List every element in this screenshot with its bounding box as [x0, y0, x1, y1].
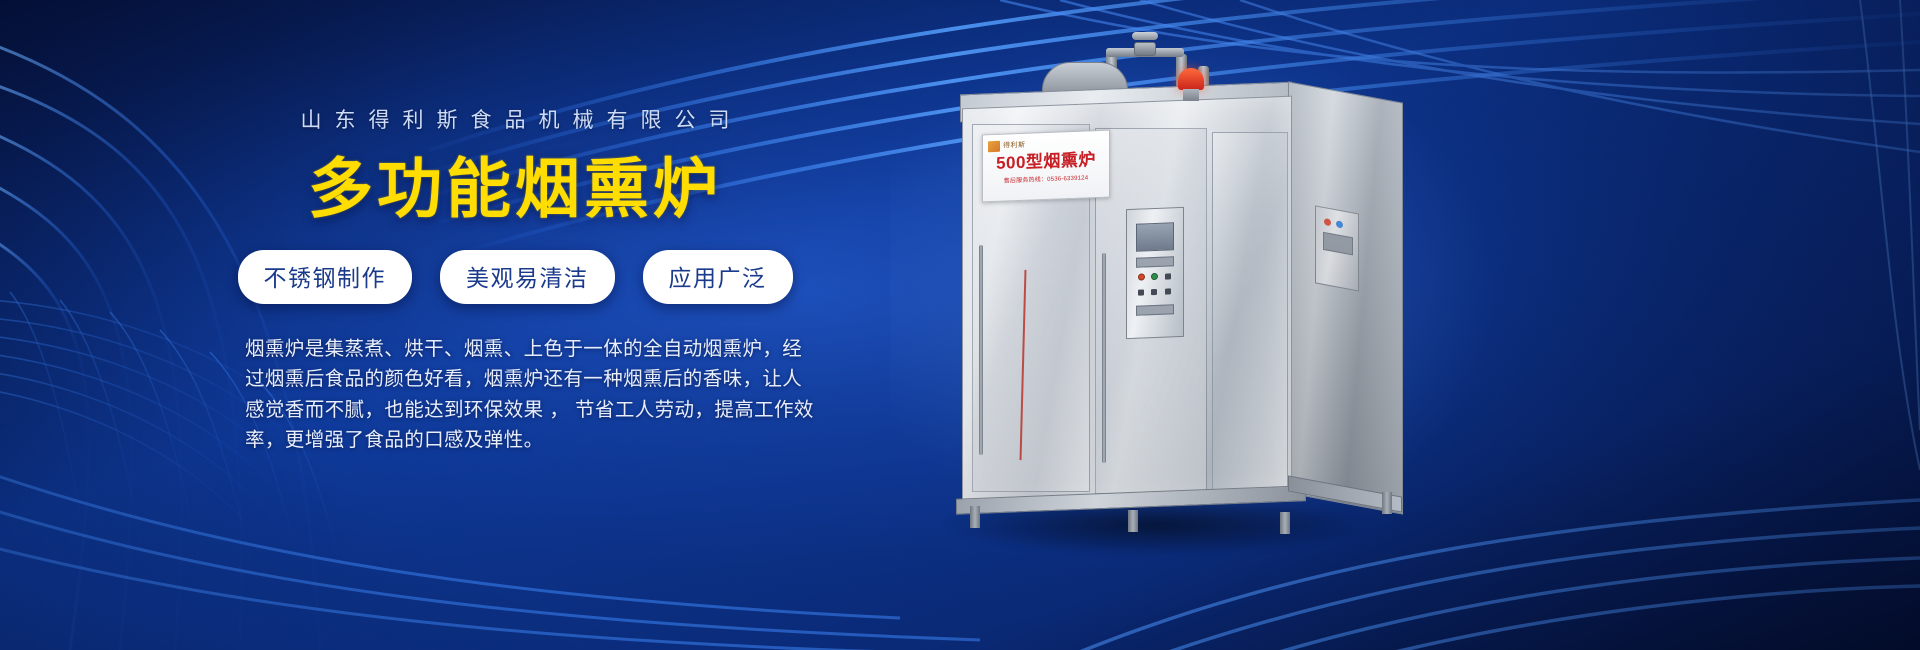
control-button-row-1[interactable]	[1136, 256, 1174, 267]
valve-body	[1134, 42, 1156, 56]
nameplate-hotline-text: 售后服务热线：0536-6339124	[988, 172, 1104, 185]
hero-banner: 山东得利斯食品机械有限公司 多功能烟熏炉 不锈钢制作 美观易清洁 应用广泛 烟熏…	[0, 0, 1920, 650]
support-leg-1	[970, 506, 980, 528]
product-nameplate: 得利斯 500型烟熏炉 售后服务热线：0536-6339124	[982, 130, 1110, 203]
alarm-beacon	[1178, 68, 1204, 102]
beacon-base	[1183, 89, 1199, 101]
nameplate-brand-text: 得利斯	[1003, 140, 1026, 151]
control-knob-red[interactable]	[1138, 273, 1145, 280]
nameplate-model-text: 500型烟熏炉	[988, 150, 1104, 175]
valve-wheel	[1132, 32, 1158, 40]
support-leg-2	[1128, 510, 1138, 532]
door-handle-middle[interactable]	[1102, 253, 1106, 463]
beacon-dome-red	[1178, 68, 1204, 90]
brand-logo-icon	[988, 140, 1000, 151]
control-button-a[interactable]	[1165, 273, 1171, 279]
banner-text-block: 山东得利斯食品机械有限公司 多功能烟熏炉 不锈钢制作 美观易清洁 应用广泛 烟熏…	[245, 104, 825, 455]
control-button-row-2[interactable]	[1136, 304, 1174, 315]
control-button-d[interactable]	[1165, 288, 1171, 294]
feature-pill-row: 不锈钢制作 美观易清洁 应用广泛	[245, 250, 785, 304]
support-leg-3	[1280, 512, 1290, 534]
feature-pill-stainless[interactable]: 不锈钢制作	[238, 250, 413, 304]
side-panel-display	[1323, 232, 1353, 256]
control-knob-green[interactable]	[1151, 273, 1158, 280]
indicator-lamp-red	[1324, 218, 1331, 226]
oven-door-right[interactable]	[1212, 132, 1288, 494]
product-image-smokehouse-oven: 得利斯 500型烟熏炉 售后服务热线：0536-6339124	[930, 40, 1490, 560]
company-name: 山东得利斯食品机械有限公司	[255, 104, 775, 134]
door-handle-left[interactable]	[979, 245, 983, 455]
control-button-c[interactable]	[1151, 289, 1157, 295]
control-display-screen	[1136, 222, 1174, 251]
indicator-lamp-blue	[1336, 220, 1343, 228]
feature-pill-wide-application[interactable]: 应用广泛	[643, 250, 793, 304]
product-description: 烟熏炉是集蒸煮、烘干、烟熏、上色于一体的全自动烟熏炉，经过烟熏后食品的颜色好看，…	[245, 334, 815, 455]
side-control-box[interactable]	[1315, 205, 1359, 291]
main-control-panel[interactable]	[1126, 207, 1184, 339]
support-leg-4	[1382, 492, 1392, 514]
control-button-b[interactable]	[1138, 289, 1144, 295]
feature-pill-easy-clean[interactable]: 美观易清洁	[440, 250, 615, 304]
cabinet-side-panel	[1288, 81, 1403, 514]
page-title: 多功能烟熏炉	[245, 154, 785, 224]
